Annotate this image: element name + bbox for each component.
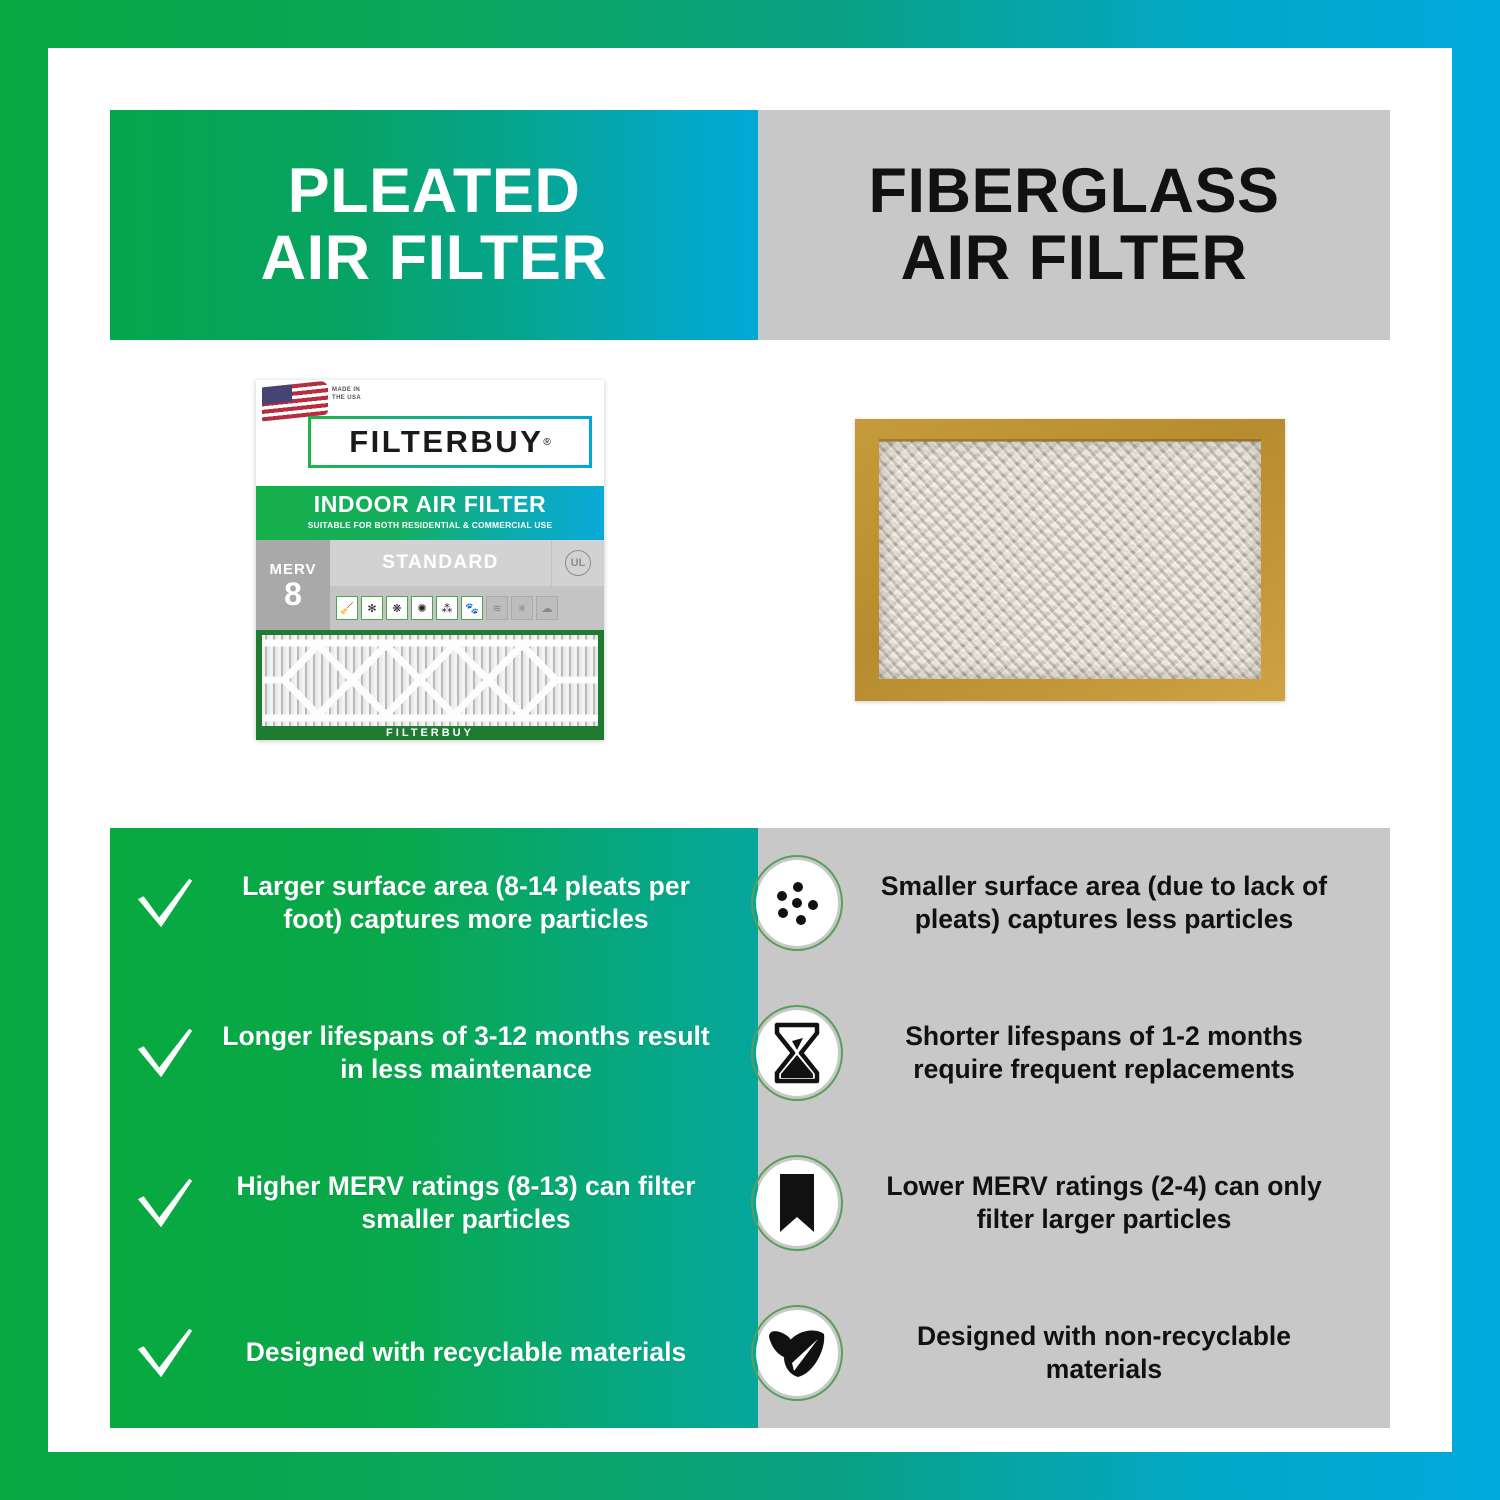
- comparison-row: Larger surface area (8-14 pleats per foo…: [110, 828, 1390, 978]
- grade-row: STANDARD UL: [330, 540, 604, 586]
- merv-label: MERV: [269, 561, 316, 578]
- comparison-section: Larger surface area (8-14 pleats per foo…: [110, 828, 1390, 1428]
- trademark-symbol: ®: [543, 437, 550, 448]
- grade-label: STANDARD: [330, 540, 552, 586]
- bookmark-badge: [751, 1155, 843, 1251]
- banner-subtitle: SUITABLE FOR BOTH RESIDENTIAL & COMMERCI…: [256, 520, 604, 530]
- filterbox-spec-panel: MERV 8 STANDARD UL 🧹 ✻ ❋: [256, 540, 604, 630]
- pleat-texture: [262, 635, 598, 726]
- dust-mite-icon: ✻: [361, 596, 383, 620]
- filterbuy-logo: FILTERBUY®: [308, 416, 592, 468]
- header-pleated-title: PLEATED AIR FILTER: [261, 158, 608, 292]
- fiberglass-frame-lip: [879, 439, 1261, 442]
- spec-right: STANDARD UL 🧹 ✻ ❋ ✺ ⁂ 🐾 ≋: [330, 540, 604, 630]
- header-fiberglass-line1: FIBERGLASS: [868, 158, 1279, 225]
- mold-icon: ✺: [411, 596, 433, 620]
- comparison-row: Higher MERV ratings (8-13) can filter sm…: [110, 1128, 1390, 1278]
- ul-certification: UL: [552, 540, 604, 586]
- row-right-text: Shorter lifespans of 1-2 months require …: [852, 1020, 1390, 1087]
- filterbox-footer-brand: FILTERBUY: [256, 727, 604, 739]
- filterbuy-brand-text: FILTERBUY: [349, 424, 543, 460]
- header-pleated-line1: PLEATED: [261, 158, 608, 225]
- infographic-card: PLEATED AIR FILTER FIBERGLASS AIR FILTER…: [48, 48, 1452, 1452]
- odor-icon: ☁: [536, 596, 558, 620]
- row-right-text: Designed with non-recyclable materials: [852, 1320, 1390, 1387]
- bacteria-icon: ⁂: [436, 596, 458, 620]
- row-right-text: Smaller surface area (due to lack of ple…: [852, 870, 1390, 937]
- support-wire-overlay: [262, 635, 598, 726]
- row-left-text: Higher MERV ratings (8-13) can filter sm…: [220, 1170, 742, 1237]
- hourglass-badge: [751, 1005, 843, 1101]
- hourglass-icon: [770, 1022, 824, 1084]
- checkmark-icon: [134, 872, 196, 934]
- row-icon-cell: [742, 855, 852, 951]
- ul-mark-icon: UL: [565, 550, 591, 576]
- pleated-media-area: FILTERBUY: [256, 630, 604, 740]
- checkmark-icon: [134, 1022, 196, 1084]
- row-right-text: Lower MERV ratings (2-4) can only filter…: [852, 1170, 1390, 1237]
- filterbox-top: MADE INTHE USA FILTERBUY®: [256, 380, 604, 486]
- header-fiberglass-line2: AIR FILTER: [868, 225, 1279, 292]
- particles-badge: [751, 855, 843, 951]
- header-fiberglass: FIBERGLASS AIR FILTER: [758, 110, 1390, 340]
- header-pleated-line2: AIR FILTER: [261, 225, 608, 292]
- particles-icon: [768, 874, 826, 932]
- bookmark-icon: [777, 1172, 817, 1234]
- row-icon-cell: [742, 1305, 852, 1401]
- header-band: PLEATED AIR FILTER FIBERGLASS AIR FILTER: [110, 110, 1390, 340]
- checkmark-icon: [134, 1322, 196, 1384]
- check-cell: [110, 1022, 220, 1084]
- fiberglass-filter-image: [855, 419, 1285, 701]
- pollen-icon: ❋: [386, 596, 408, 620]
- header-fiberglass-title: FIBERGLASS AIR FILTER: [868, 158, 1279, 292]
- leaf-badge: [751, 1305, 843, 1401]
- comparison-row: Longer lifespans of 3-12 months result i…: [110, 978, 1390, 1128]
- banner-title: INDOOR AIR FILTER: [256, 491, 604, 518]
- row-left-text: Designed with recyclable materials: [220, 1336, 742, 1369]
- pleated-filter-image: MADE INTHE USA FILTERBUY® INDOOR AIR FIL…: [256, 380, 604, 740]
- product-images-row: MADE INTHE USA FILTERBUY® INDOOR AIR FIL…: [110, 340, 1390, 780]
- comparison-row: Designed with recyclable materials Desig…: [110, 1278, 1390, 1428]
- filtration-icon-strip: 🧹 ✻ ❋ ✺ ⁂ 🐾 ≋ ✳ ☁: [330, 586, 604, 630]
- leaf-icon: [766, 1325, 828, 1381]
- check-cell: [110, 872, 220, 934]
- smoke-icon: ≋: [486, 596, 508, 620]
- check-cell: [110, 1172, 220, 1234]
- row-left-text: Longer lifespans of 3-12 months result i…: [220, 1020, 742, 1087]
- made-in-usa-label: MADE INTHE USA: [332, 386, 361, 402]
- broom-icon: 🧹: [336, 596, 358, 620]
- row-icon-cell: [742, 1155, 852, 1251]
- checkmark-icon: [134, 1172, 196, 1234]
- comparison-rows: Larger surface area (8-14 pleats per foo…: [110, 828, 1390, 1428]
- row-left-text: Larger surface area (8-14 pleats per foo…: [220, 870, 742, 937]
- fiberglass-product-cell: [750, 340, 1390, 780]
- merv-rating-block: MERV 8: [256, 540, 330, 630]
- row-icon-cell: [742, 1005, 852, 1101]
- indoor-air-filter-banner: INDOOR AIR FILTER SUITABLE FOR BOTH RESI…: [256, 486, 604, 540]
- pleated-product-cell: MADE INTHE USA FILTERBUY® INDOOR AIR FIL…: [110, 340, 750, 780]
- merv-value: 8: [284, 578, 302, 610]
- fiberglass-mesh-texture: [879, 441, 1261, 679]
- virus-icon: ✳: [511, 596, 533, 620]
- pet-dander-icon: 🐾: [461, 596, 483, 620]
- check-cell: [110, 1322, 220, 1384]
- header-pleated: PLEATED AIR FILTER: [110, 110, 758, 340]
